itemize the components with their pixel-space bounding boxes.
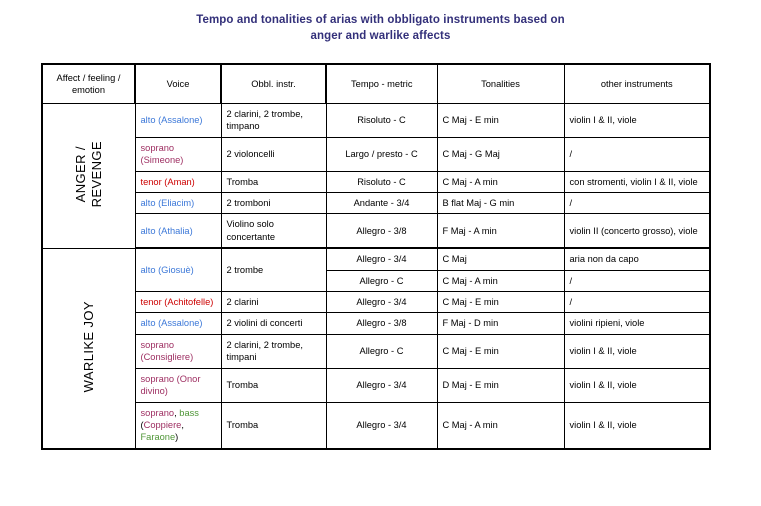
page-title-line-1: Tempo and tonalities of arias with obbli…: [0, 12, 761, 28]
cell-voice: tenor (Aman): [135, 171, 221, 192]
cell-tempo-metric: Allegro - 3/4: [326, 248, 437, 270]
cell-voice: soprano (Simeone): [135, 137, 221, 171]
cell-tonalities: C Maj: [437, 248, 564, 270]
table-row: ANGER / REVENGEalto (Assalone)2 clarini,…: [42, 104, 710, 138]
column-header-obbl-instr: Obbl. instr.: [221, 64, 326, 104]
table-row: tenor (Aman)TrombaRisoluto - CC Maj - A …: [42, 171, 710, 192]
cell-tonalities: B flat Maj - G min: [437, 193, 564, 214]
cell-other-instruments: con stromenti, violin I & II, viole: [564, 171, 710, 192]
cell-obbl-instr: 2 clarini: [221, 292, 326, 313]
cell-other-instruments: violin I & II, viole: [564, 104, 710, 138]
cell-other-instruments: /: [564, 270, 710, 291]
column-header-voice: Voice: [135, 64, 221, 104]
cell-tonalities: C Maj - A min: [437, 270, 564, 291]
cell-tempo-metric: Allegro - 3/8: [326, 313, 437, 334]
column-header-tempo-metric: Tempo - metric: [326, 64, 437, 104]
cell-obbl-instr: 2 violoncelli: [221, 137, 326, 171]
cell-tonalities: D Maj - E min: [437, 368, 564, 402]
table-body: ANGER / REVENGEalto (Assalone)2 clarini,…: [42, 104, 710, 449]
cell-other-instruments: violin II (concerto grosso), viole: [564, 214, 710, 248]
cell-tempo-metric: Allegro - 3/4: [326, 368, 437, 402]
cell-obbl-instr: 2 violini di concerti: [221, 313, 326, 334]
cell-voice: tenor (Achitofelle): [135, 292, 221, 313]
voice-part-alto: alto (Giosuè): [141, 265, 194, 275]
cell-obbl-instr: Tromba: [221, 171, 326, 192]
cell-tempo-metric: Risoluto - C: [326, 171, 437, 192]
voice-part-soprano: soprano (Onor divino): [141, 374, 201, 396]
table-row: WARLIKE JOYalto (Giosuè)2 trombeAllegro …: [42, 248, 710, 270]
cell-obbl-instr: 2 tromboni: [221, 193, 326, 214]
voice-part-soprano: soprano (Simeone): [141, 143, 184, 165]
cell-voice: alto (Assalone): [135, 104, 221, 138]
cell-other-instruments: /: [564, 292, 710, 313]
page-title: Tempo and tonalities of arias with obbli…: [0, 12, 761, 44]
table-row: alto (Eliacim)2 tromboniAndante - 3/4B f…: [42, 193, 710, 214]
cell-tonalities: C Maj - E min: [437, 104, 564, 138]
cell-voice: soprano (Consigliere): [135, 334, 221, 368]
cell-tempo-metric: Allegro - C: [326, 270, 437, 291]
cell-obbl-instr: Violino solo concertante: [221, 214, 326, 248]
cell-tempo-metric: Andante - 3/4: [326, 193, 437, 214]
section-label-anger-revenge: ANGER / REVENGE: [42, 104, 135, 249]
table-row: soprano (Onor divino)TrombaAllegro - 3/4…: [42, 368, 710, 402]
cell-voice: soprano (Onor divino): [135, 368, 221, 402]
cell-obbl-instr: Tromba: [221, 368, 326, 402]
cell-obbl-instr: 2 trombe: [221, 248, 326, 291]
voice-part-alto: alto (Assalone): [141, 318, 203, 328]
voice-part-soprano: soprano (Consigliere): [141, 340, 194, 362]
section-label-warlike-joy: WARLIKE JOY: [42, 248, 135, 448]
cell-other-instruments: violini ripieni, viole: [564, 313, 710, 334]
cell-voice: alto (Giosuè): [135, 248, 221, 291]
column-header-other-instruments: other instruments: [564, 64, 710, 104]
cell-tempo-metric: Allegro - 3/4: [326, 292, 437, 313]
column-header-tonalities: Tonalities: [437, 64, 564, 104]
table-header: Affect / feeling / emotion Voice Obbl. i…: [42, 64, 710, 104]
table-row: alto (Athalia)Violino solo concertanteAl…: [42, 214, 710, 248]
cell-tempo-metric: Allegro - 3/4: [326, 402, 437, 449]
cell-tempo-metric: Risoluto - C: [326, 104, 437, 138]
arias-table-container: Affect / feeling / emotion Voice Obbl. i…: [41, 63, 709, 450]
arias-table: Affect / feeling / emotion Voice Obbl. i…: [41, 63, 711, 450]
cell-tonalities: C Maj - A min: [437, 171, 564, 192]
voice-part-plain: ,: [181, 420, 184, 430]
section-label-text: ANGER / REVENGE: [73, 141, 105, 207]
cell-other-instruments: /: [564, 137, 710, 171]
cell-tonalities: C Maj - G Maj: [437, 137, 564, 171]
table-row: tenor (Achitofelle)2 clariniAllegro - 3/…: [42, 292, 710, 313]
voice-part-alto: alto (Eliacim): [141, 198, 195, 208]
cell-tonalities: C Maj - A min: [437, 402, 564, 449]
voice-part-tenor: tenor (Achitofelle): [141, 297, 214, 307]
cell-tonalities: F Maj - A min: [437, 214, 564, 248]
cell-voice: soprano, bass (Coppiere, Faraone): [135, 402, 221, 449]
cell-obbl-instr: 2 clarini, 2 trombe, timpani: [221, 334, 326, 368]
cell-other-instruments: aria non da capo: [564, 248, 710, 270]
cell-obbl-instr: Tromba: [221, 402, 326, 449]
page-title-line-2: anger and warlike affects: [0, 28, 761, 44]
section-label-text: WARLIKE JOY: [81, 301, 97, 392]
voice-part-alto: alto (Assalone): [141, 115, 203, 125]
table-row: soprano, bass (Coppiere, Faraone)TrombaA…: [42, 402, 710, 449]
cell-other-instruments: violin I & II, viole: [564, 334, 710, 368]
voice-part-bass: Faraone: [141, 432, 176, 442]
voice-part-plain: ): [175, 432, 178, 442]
cell-tempo-metric: Largo / presto - C: [326, 137, 437, 171]
table-row: alto (Assalone)2 violini di concertiAlle…: [42, 313, 710, 334]
cell-tonalities: C Maj - E min: [437, 334, 564, 368]
cell-tonalities: C Maj - E min: [437, 292, 564, 313]
cell-voice: alto (Athalia): [135, 214, 221, 248]
voice-part-alto: alto (Athalia): [141, 226, 193, 236]
cell-tonalities: F Maj - D min: [437, 313, 564, 334]
voice-part-bass: bass: [179, 408, 199, 418]
voice-part-tenor: tenor (Aman): [141, 177, 195, 187]
cell-voice: alto (Assalone): [135, 313, 221, 334]
cell-voice: alto (Eliacim): [135, 193, 221, 214]
voice-part-soprano: Coppiere: [144, 420, 182, 430]
table-header-row: Affect / feeling / emotion Voice Obbl. i…: [42, 64, 710, 104]
cell-obbl-instr: 2 clarini, 2 trombe, timpano: [221, 104, 326, 138]
cell-tempo-metric: Allegro - C: [326, 334, 437, 368]
voice-part-soprano: soprano: [141, 408, 175, 418]
column-header-affect: Affect / feeling / emotion: [42, 64, 135, 104]
cell-other-instruments: /: [564, 193, 710, 214]
table-row: soprano (Consigliere)2 clarini, 2 trombe…: [42, 334, 710, 368]
cell-other-instruments: violin I & II, viole: [564, 402, 710, 449]
cell-tempo-metric: Allegro - 3/8: [326, 214, 437, 248]
table-row: soprano (Simeone)2 violoncelliLargo / pr…: [42, 137, 710, 171]
page-root: Tempo and tonalities of arias with obbli…: [0, 0, 761, 506]
cell-other-instruments: violin I & II, viole: [564, 368, 710, 402]
